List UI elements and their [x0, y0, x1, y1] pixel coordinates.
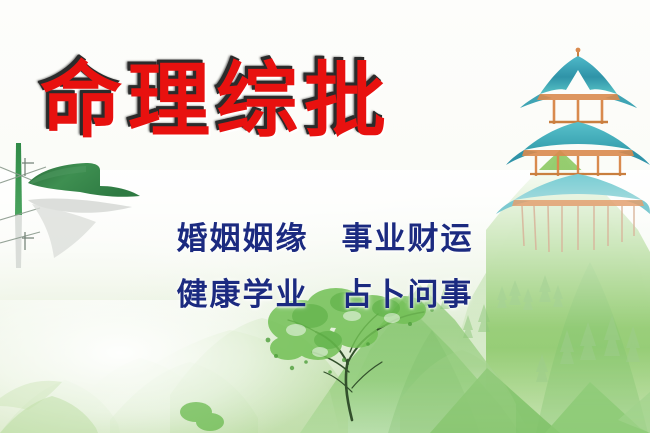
subtitle-line-2: 健康学业 占卜问事	[0, 269, 650, 314]
fortune-telling-banner: 命理综批 婚姻姻缘 事业财运 健康学业 占卜问事	[0, 0, 650, 433]
page-title: 命理综批	[40, 54, 420, 150]
subtitle-line-1: 婚姻姻缘 事业财运	[0, 213, 650, 258]
low-mist-overlay	[0, 300, 400, 433]
